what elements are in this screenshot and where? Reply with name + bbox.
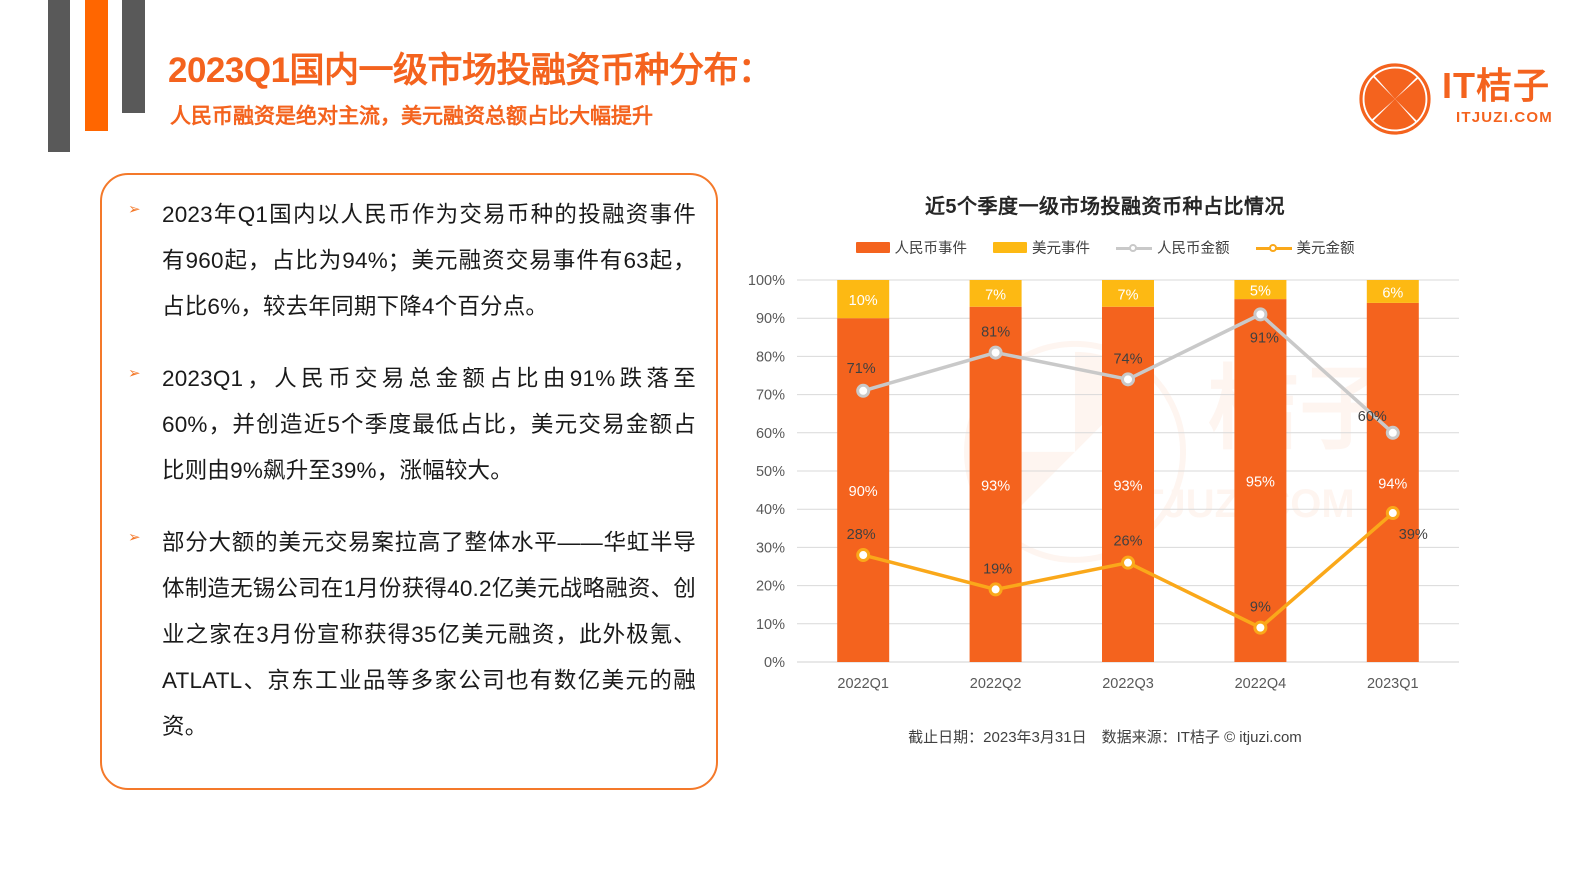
page-title: 2023Q1国内一级市场投融资币种分布： [168,42,773,93]
chart-footer-note: 截止日期：2023年3月31日 数据来源：IT桔子 © itjuzi.com [735,726,1475,747]
legend-swatch-icon [856,242,890,253]
svg-text:80%: 80% [756,349,785,365]
list-item-text: 2023Q1，人民币交易总金额占比由91%跌落至60%，并创造近5个季度最低占比… [162,356,696,494]
svg-text:60%: 60% [1358,409,1387,425]
legend-item-rmb-amount[interactable]: 人民币金额 [1116,237,1230,258]
legend-item-usd-events[interactable]: 美元事件 [993,237,1090,258]
bullet-arrow-icon: ➢ [128,356,162,381]
svg-text:74%: 74% [1113,351,1142,367]
legend-swatch-icon [1256,242,1292,254]
header-deco-bar-gray-right [122,0,145,113]
svg-text:50%: 50% [756,464,785,480]
svg-text:39%: 39% [1399,527,1428,543]
legend-swatch-icon [1116,242,1152,254]
chart-legend: 人民币事件 美元事件 人民币金额 美元金额 [735,237,1475,258]
svg-text:40%: 40% [756,502,785,518]
svg-text:93%: 93% [1113,478,1142,494]
svg-text:91%: 91% [1250,330,1279,346]
legend-item-usd-amount[interactable]: 美元金额 [1256,237,1355,258]
legend-label: 人民币事件 [895,237,968,258]
legend-swatch-icon [993,242,1027,253]
svg-text:93%: 93% [981,478,1010,494]
svg-text:26%: 26% [1113,534,1142,550]
svg-text:60%: 60% [756,426,785,442]
svg-text:10%: 10% [756,617,785,633]
list-item-text: 部分大额的美元交易案拉高了整体水平——华虹半导体制造无锡公司在1月份获得40.2… [162,520,696,750]
list-item: ➢ 2023年Q1国内以人民币作为交易币种的投融资事件有960起，占比为94%；… [128,192,696,330]
svg-text:5%: 5% [1250,284,1271,300]
svg-text:2023Q1: 2023Q1 [1367,676,1419,692]
chart-panel: 近5个季度一级市场投融资币种占比情况 人民币事件 美元事件 人民币金额 美 [735,180,1475,760]
svg-text:81%: 81% [981,325,1010,341]
svg-text:71%: 71% [847,361,876,377]
list-item-text: 2023年Q1国内以人民币作为交易币种的投融资事件有960起，占比为94%；美元… [162,192,696,330]
svg-text:28%: 28% [847,527,876,543]
chart-title: 近5个季度一级市场投融资币种占比情况 [735,190,1475,219]
legend-label: 美元事件 [1032,237,1090,258]
bullet-arrow-icon: ➢ [128,192,162,217]
header-deco-bar-orange [85,0,108,131]
svg-text:100%: 100% [748,273,785,289]
svg-text:19%: 19% [983,561,1012,577]
logo-name: IT桔子 [1442,64,1567,108]
legend-label: 人民币金额 [1157,237,1230,258]
bullet-arrow-icon: ➢ [128,520,162,545]
legend-label: 美元金额 [1297,237,1355,258]
svg-text:7%: 7% [985,287,1006,303]
svg-text:2022Q4: 2022Q4 [1235,676,1287,692]
list-item: ➢ 2023Q1，人民币交易总金额占比由91%跌落至60%，并创造近5个季度最低… [128,356,696,494]
svg-text:2022Q2: 2022Q2 [970,676,1022,692]
svg-text:9%: 9% [1250,600,1271,616]
orange-slice-icon [1358,62,1432,136]
svg-text:94%: 94% [1378,476,1407,492]
svg-text:6%: 6% [1382,285,1403,301]
svg-text:30%: 30% [756,540,785,556]
slide-root: 2023Q1国内一级市场投融资币种分布： 人民币融资是绝对主流，美元融资总额占比… [0,0,1587,892]
svg-text:7%: 7% [1118,287,1139,303]
page-subtitle: 人民币融资是绝对主流，美元融资总额占比大幅提升 [170,100,653,130]
svg-text:70%: 70% [756,388,785,404]
chart-plot-area: 桔子ITJUZI.COM0%10%20%30%40%50%60%70%80%90… [735,272,1475,702]
list-item: ➢ 部分大额的美元交易案拉高了整体水平——华虹半导体制造无锡公司在1月份获得40… [128,520,696,750]
chart-svg: 桔子ITJUZI.COM0%10%20%30%40%50%60%70%80%90… [735,272,1475,702]
insight-bullet-list: ➢ 2023年Q1国内以人民币作为交易币种的投融资事件有960起，占比为94%；… [128,192,696,776]
svg-text:95%: 95% [1246,475,1275,491]
brand-logo: IT桔子 ITJUZI.COM [1358,62,1563,138]
svg-text:2022Q3: 2022Q3 [1102,676,1154,692]
svg-text:2022Q1: 2022Q1 [837,676,889,692]
header-deco-bar-gray-left [48,0,70,152]
svg-text:90%: 90% [849,484,878,500]
svg-text:10%: 10% [849,293,878,309]
logo-domain: ITJUZI.COM [1442,109,1567,126]
svg-text:0%: 0% [764,655,785,671]
legend-item-rmb-events[interactable]: 人民币事件 [856,237,968,258]
svg-text:20%: 20% [756,579,785,595]
svg-text:90%: 90% [756,311,785,327]
